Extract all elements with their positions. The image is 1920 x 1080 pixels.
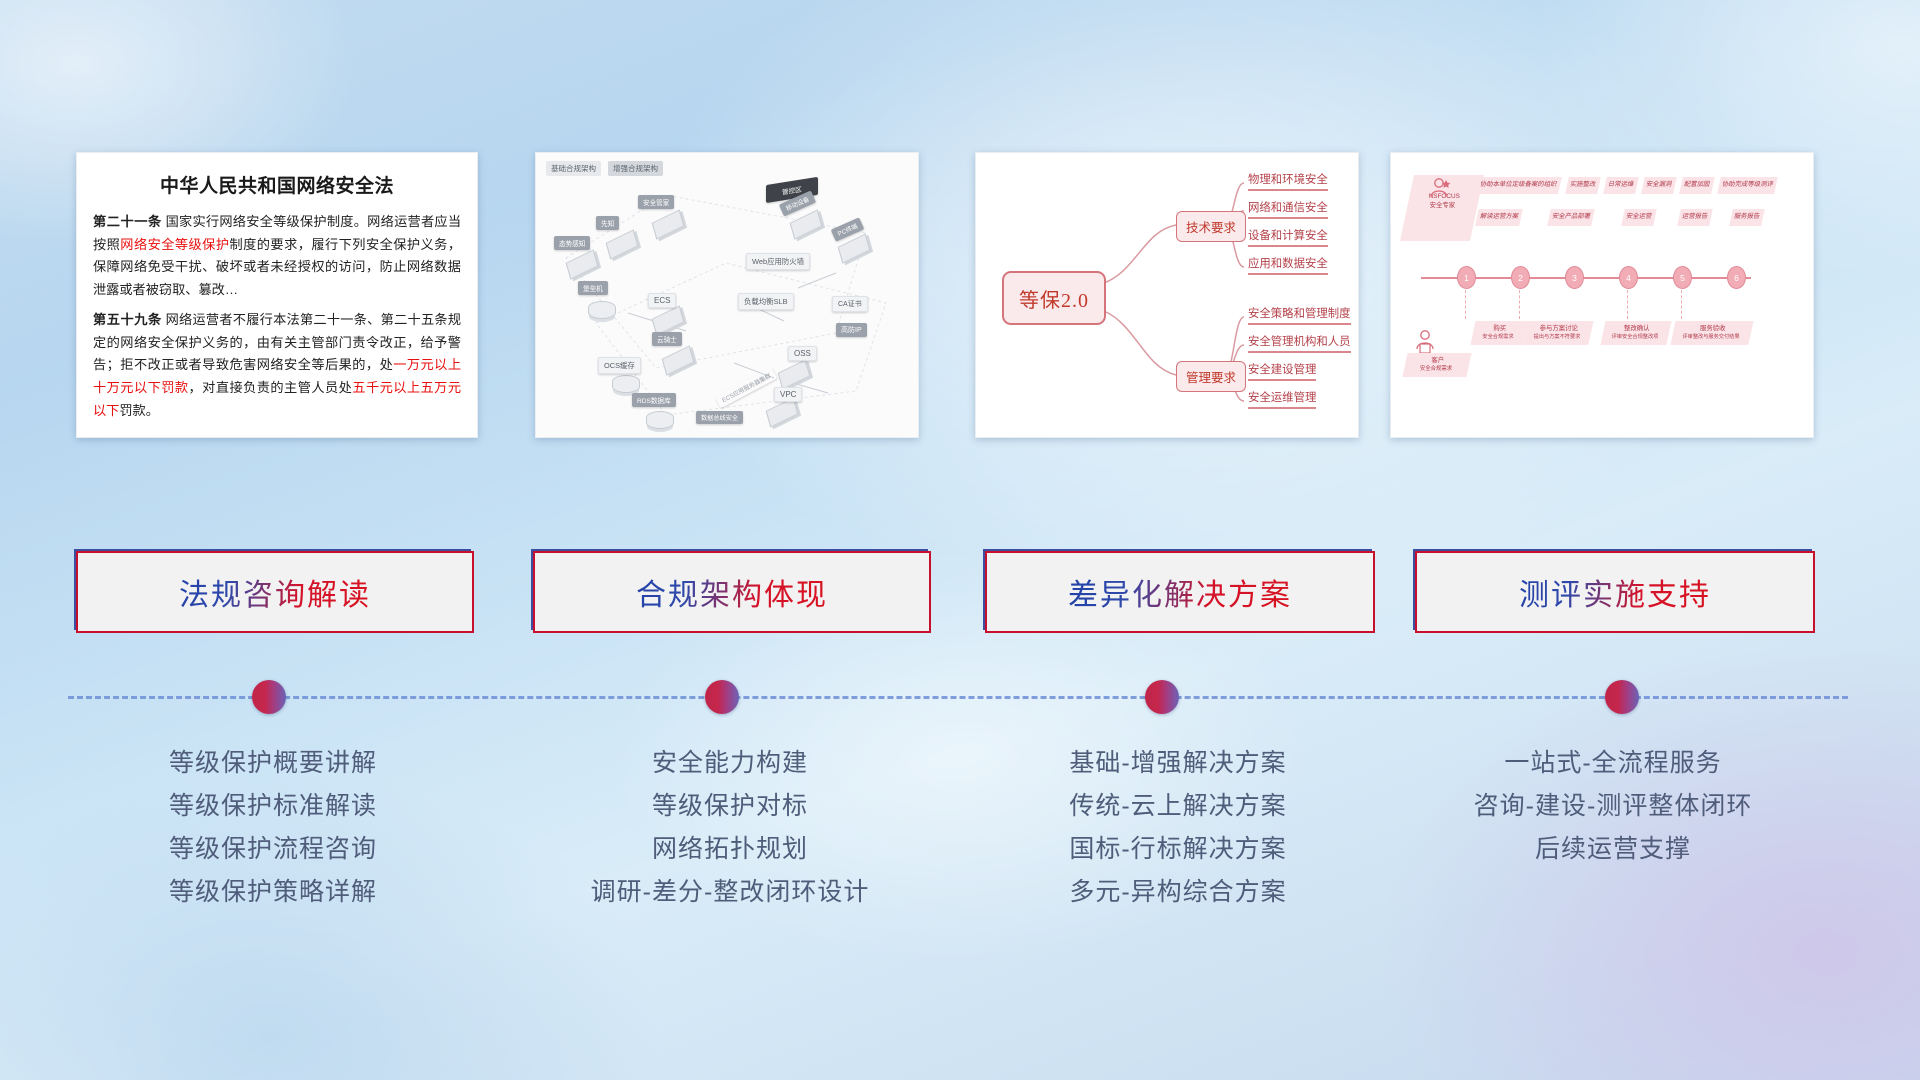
timeline-dot-3: [1145, 680, 1179, 714]
timeline-dot-4: [1605, 680, 1639, 714]
section-title-label-3: 差异化解决方案: [1068, 570, 1292, 614]
list-item: 一站式-全流程服务: [1415, 742, 1811, 785]
section-title-box-2[interactable]: 合规架构体现: [533, 551, 931, 633]
list-item: 多元-异构综合方案: [985, 871, 1371, 914]
detail-list-1: 等级保护概要讲解 等级保护标准解读 等级保护流程咨询 等级保护策略详解: [76, 742, 470, 914]
list-item: 等级保护标准解读: [76, 785, 470, 828]
section-title-box-4[interactable]: 测评实施支持: [1415, 551, 1815, 633]
slide-stage: 中华人民共和国网络安全法 第二十一条 国家实行网络安全等级保护制度。网络运营者应…: [0, 0, 1920, 1080]
section-detail-lists: 等级保护概要讲解 等级保护标准解读 等级保护流程咨询 等级保护策略详解 安全能力…: [0, 742, 1920, 982]
detail-list-2: 安全能力构建 等级保护对标 网络拓扑规划 调研-差分-整改闭环设计: [533, 742, 927, 914]
section-title-label-1: 法规咨询解读: [179, 570, 371, 614]
timeline-dot-1: [252, 680, 286, 714]
list-item: 传统-云上解决方案: [985, 785, 1371, 828]
list-item: 调研-差分-整改闭环设计: [533, 871, 927, 914]
list-item: 等级保护概要讲解: [76, 742, 470, 785]
detail-list-4: 一站式-全流程服务 咨询-建设-测评整体闭环 后续运营支撑: [1415, 742, 1811, 871]
list-item: 国标-行标解决方案: [985, 828, 1371, 871]
timeline-dashed-rail: [68, 696, 1848, 699]
list-item: 等级保护流程咨询: [76, 828, 470, 871]
list-item: 等级保护对标: [533, 785, 927, 828]
detail-list-3: 基础-增强解决方案 传统-云上解决方案 国标-行标解决方案 多元-异构综合方案: [985, 742, 1371, 914]
list-item: 咨询-建设-测评整体闭环: [1415, 785, 1811, 828]
timeline-dot-2: [705, 680, 739, 714]
section-title-label-2: 合规架构体现: [636, 570, 828, 614]
list-item: 基础-增强解决方案: [985, 742, 1371, 785]
list-item: 等级保护策略详解: [76, 871, 470, 914]
list-item: 网络拓扑规划: [533, 828, 927, 871]
section-title-label-4: 测评实施支持: [1519, 570, 1711, 614]
section-title-box-1[interactable]: 法规咨询解读: [76, 551, 474, 633]
list-item: 安全能力构建: [533, 742, 927, 785]
list-item: 后续运营支撑: [1415, 828, 1811, 871]
section-title-box-3[interactable]: 差异化解决方案: [985, 551, 1375, 633]
